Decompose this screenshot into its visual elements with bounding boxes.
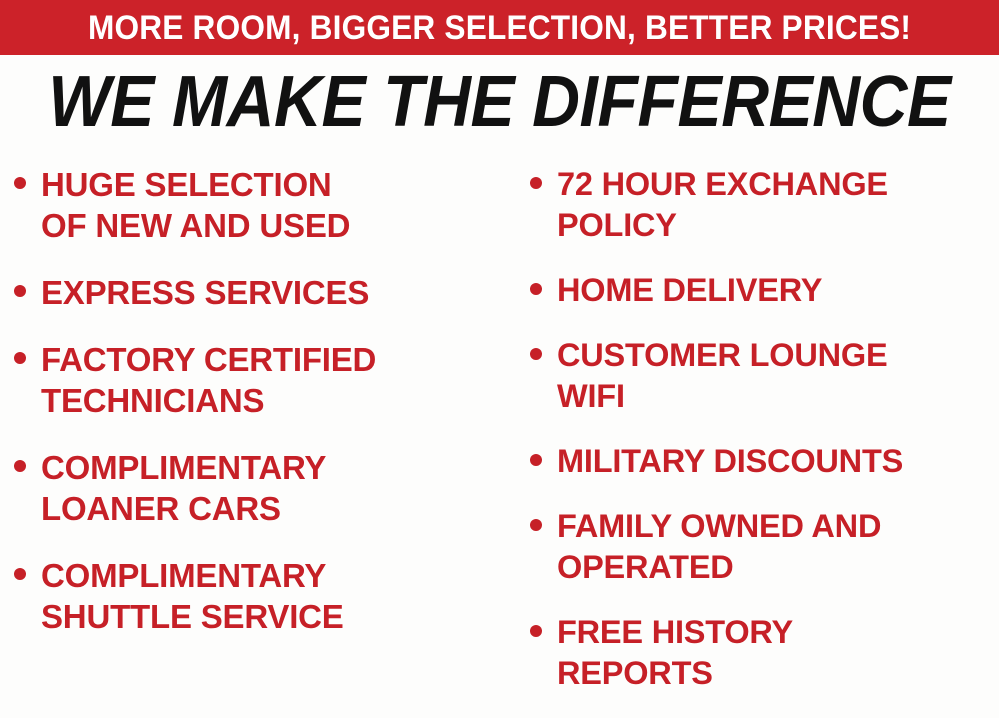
list-item: FACTORY CERTIFIED TECHNICIANS	[14, 339, 512, 421]
bullet-dot-icon	[14, 568, 26, 580]
bullet-dot-icon	[530, 348, 542, 360]
list-item-label: FACTORY CERTIFIED TECHNICIANS	[41, 339, 376, 421]
list-item-label: HUGE SELECTION OF NEW AND USED	[41, 164, 350, 246]
bullet-dot-icon	[530, 519, 542, 531]
bullet-dot-icon	[530, 625, 542, 637]
bullet-dot-icon	[14, 352, 26, 364]
bullet-dot-icon	[530, 454, 542, 466]
page-title: WE MAKE THE DIFFERENCE	[48, 66, 951, 138]
list-item: EXPRESS SERVICES	[14, 272, 512, 313]
benefits-section: HUGE SELECTION OF NEW AND USED EXPRESS S…	[0, 150, 999, 692]
bullet-dot-icon	[14, 285, 26, 297]
headline-container: WE MAKE THE DIFFERENCE	[0, 63, 999, 141]
list-item-label: COMPLIMENTARY LOANER CARS	[41, 447, 326, 529]
list-item: COMPLIMENTARY SHUTTLE SERVICE	[14, 555, 512, 637]
list-item: HUGE SELECTION OF NEW AND USED	[14, 164, 512, 246]
benefits-left-column: HUGE SELECTION OF NEW AND USED EXPRESS S…	[0, 150, 512, 663]
list-item-label: FREE HISTORY REPORTS	[557, 612, 793, 694]
list-item: 72 HOUR EXCHANGE POLICY	[530, 164, 999, 246]
list-item: FREE HISTORY REPORTS	[530, 612, 999, 694]
list-item-label: MILITARY DISCOUNTS	[557, 441, 903, 482]
list-item-label: CUSTOMER LOUNGE WIFI	[557, 335, 887, 417]
list-item-label: EXPRESS SERVICES	[41, 272, 369, 313]
list-item: CUSTOMER LOUNGE WIFI	[530, 335, 999, 417]
list-item: FAMILY OWNED AND OPERATED	[530, 506, 999, 588]
promo-banner: MORE ROOM, BIGGER SELECTION, BETTER PRIC…	[0, 0, 999, 55]
benefits-right-column: 72 HOUR EXCHANGE POLICY HOME DELIVERY CU…	[512, 150, 999, 718]
list-item: MILITARY DISCOUNTS	[530, 441, 999, 482]
list-item-label: 72 HOUR EXCHANGE POLICY	[557, 164, 888, 246]
bullet-dot-icon	[14, 177, 26, 189]
list-item-label: COMPLIMENTARY SHUTTLE SERVICE	[41, 555, 344, 637]
list-item-label: FAMILY OWNED AND OPERATED	[557, 506, 881, 588]
bullet-dot-icon	[530, 177, 542, 189]
bullet-dot-icon	[14, 460, 26, 472]
promo-banner-text: MORE ROOM, BIGGER SELECTION, BETTER PRIC…	[88, 11, 911, 45]
list-item: HOME DELIVERY	[530, 270, 999, 311]
list-item: COMPLIMENTARY LOANER CARS	[14, 447, 512, 529]
list-item-label: HOME DELIVERY	[557, 270, 822, 311]
bullet-dot-icon	[530, 283, 542, 295]
